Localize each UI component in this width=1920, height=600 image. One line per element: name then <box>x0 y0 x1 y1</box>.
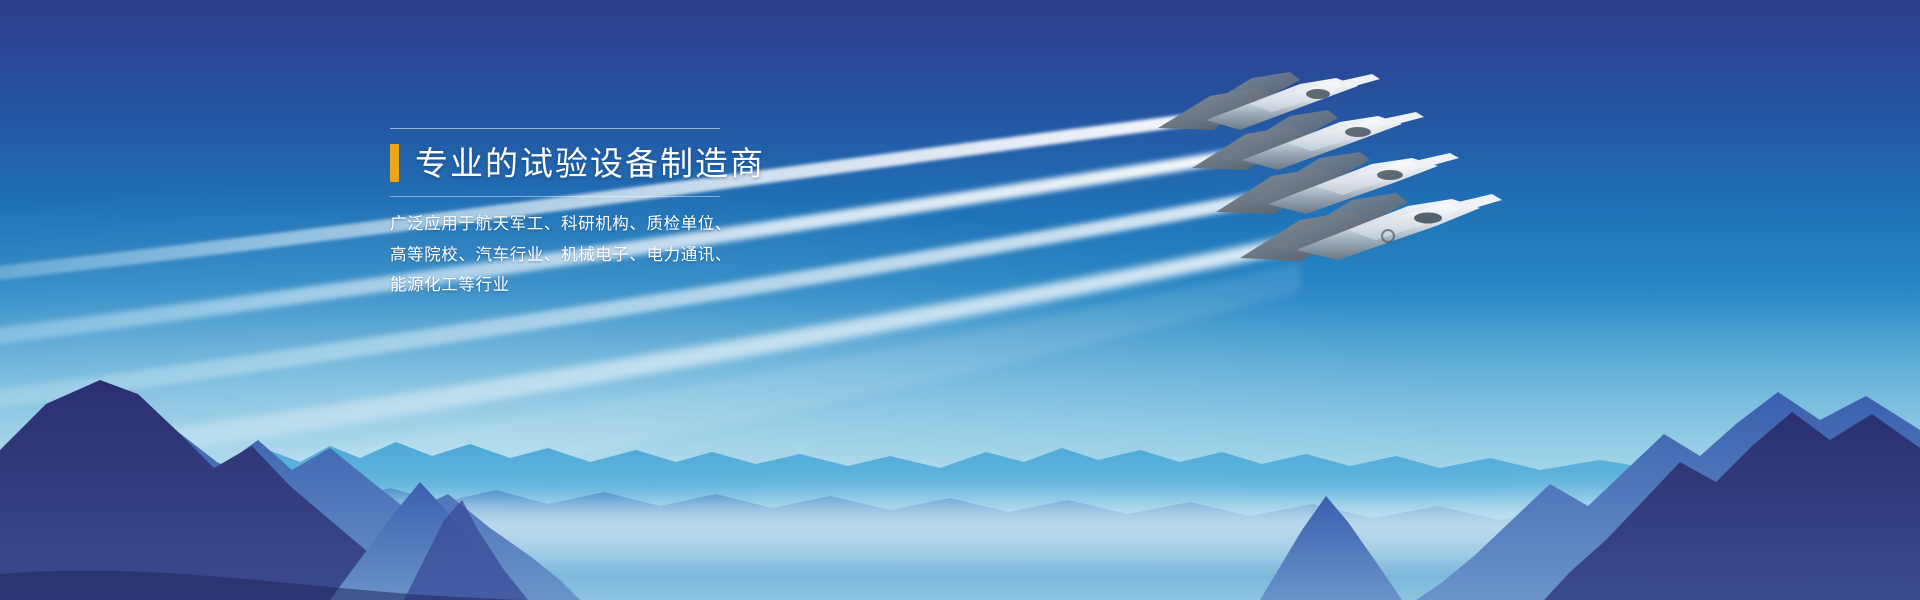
headline-rule-bottom <box>390 196 720 197</box>
banner-text-block: 专业的试验设备制造商 广泛应用于航天军工、科研机构、质检单位、 高等院校、汽车行… <box>390 128 820 301</box>
mountains-layer <box>0 0 1920 600</box>
banner-subtitle: 广泛应用于航天军工、科研机构、质检单位、 高等院校、汽车行业、机械电子、电力通讯… <box>390 209 820 301</box>
subtitle-line-3: 能源化工等行业 <box>390 270 820 301</box>
headline-row: 专业的试验设备制造商 <box>390 138 820 188</box>
page-title: 专业的试验设备制造商 <box>415 147 765 180</box>
subtitle-line-1: 广泛应用于航天军工、科研机构、质检单位、 <box>390 209 820 240</box>
hero-banner: 专业的试验设备制造商 广泛应用于航天军工、科研机构、质检单位、 高等院校、汽车行… <box>0 0 1920 600</box>
subtitle-line-2: 高等院校、汽车行业、机械电子、电力通讯、 <box>390 240 820 271</box>
accent-bar <box>390 144 399 182</box>
headline-rule-top <box>390 128 720 129</box>
